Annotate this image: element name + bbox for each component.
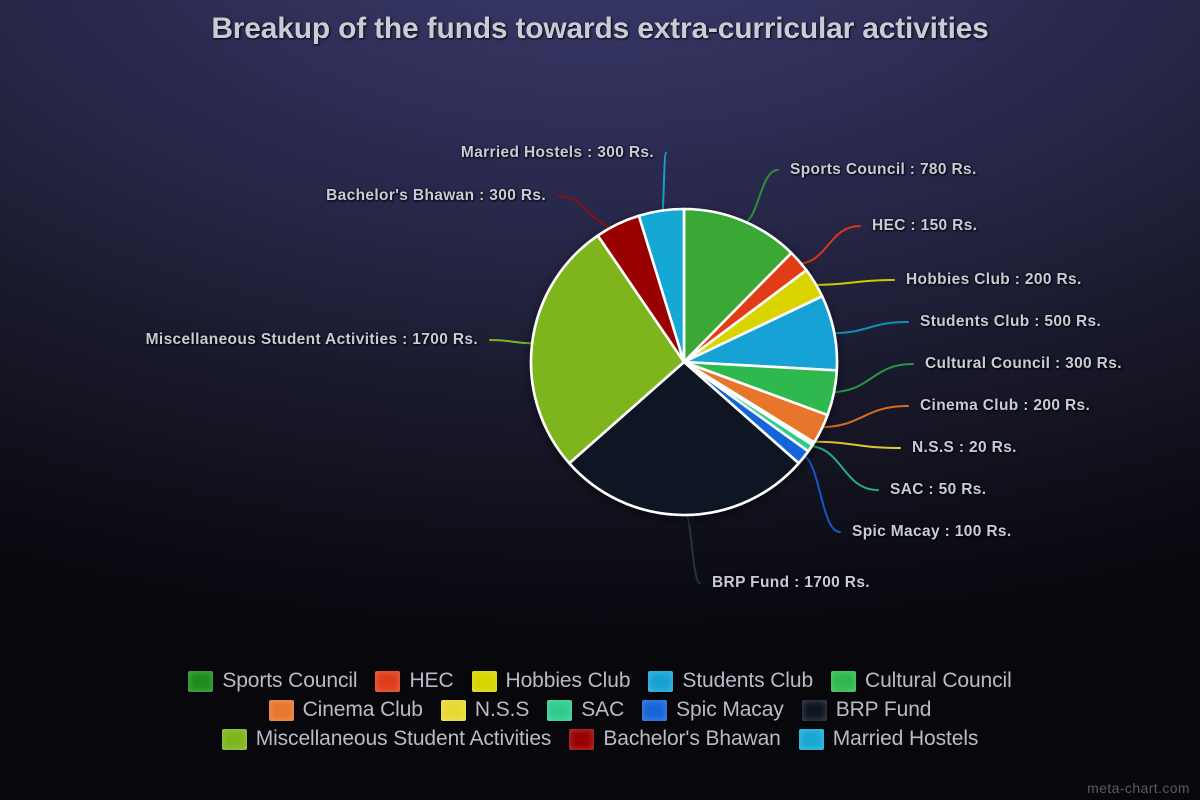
legend-item-label: SAC <box>581 697 624 723</box>
legend-swatch-icon <box>569 729 594 750</box>
chart-legend: Sports CouncilHECHobbies ClubStudents Cl… <box>0 668 1200 752</box>
legend-swatch-icon <box>648 671 673 692</box>
legend-item-label: HEC <box>409 668 453 694</box>
legend-item-label: Spic Macay <box>676 697 784 723</box>
legend-item[interactable]: Miscellaneous Student Activities <box>222 726 552 752</box>
leader-line <box>830 364 913 392</box>
legend-swatch-icon <box>642 700 667 721</box>
leader-line <box>558 196 619 228</box>
legend-swatch-icon <box>375 671 400 692</box>
legend-item-label: Bachelor's Bhawan <box>603 726 780 752</box>
leader-line <box>662 153 666 215</box>
legend-item[interactable]: HEC <box>375 668 453 694</box>
legend-item[interactable]: Students Club <box>648 668 813 694</box>
legend-row: Miscellaneous Student ActivitiesBachelor… <box>213 726 988 752</box>
legend-item[interactable]: Bachelor's Bhawan <box>569 726 780 752</box>
legend-row: Sports CouncilHECHobbies ClubStudents Cl… <box>179 668 1020 694</box>
legend-item-label: Married Hostels <box>833 726 979 752</box>
legend-item[interactable]: Spic Macay <box>642 697 784 723</box>
leader-line <box>800 455 840 532</box>
legend-item[interactable]: BRP Fund <box>802 697 932 723</box>
leader-line <box>684 511 700 583</box>
legend-item-label: BRP Fund <box>836 697 932 723</box>
legend-item-label: N.S.S <box>475 697 529 723</box>
legend-item-label: Sports Council <box>222 668 357 694</box>
legend-swatch-icon <box>547 700 572 721</box>
legend-swatch-icon <box>222 729 247 750</box>
leader-line <box>810 442 900 448</box>
leader-line <box>818 406 908 427</box>
pie-slices <box>531 209 837 515</box>
legend-row: Cinema ClubN.S.SSACSpic MacayBRP Fund <box>260 697 941 723</box>
legend-item-label: Cinema Club <box>303 697 423 723</box>
legend-item[interactable]: Hobbies Club <box>472 668 631 694</box>
legend-item-label: Students Club <box>682 668 813 694</box>
legend-swatch-icon <box>472 671 497 692</box>
leader-line <box>830 322 908 333</box>
pie-chart-area: Sports Council : 780 Rs.HEC : 150 Rs.Hob… <box>0 0 1200 660</box>
legend-swatch-icon <box>188 671 213 692</box>
pie-chart-svg <box>0 0 1200 660</box>
leader-line <box>490 340 536 343</box>
legend-item[interactable]: Married Hostels <box>799 726 979 752</box>
legend-swatch-icon <box>799 729 824 750</box>
legend-item[interactable]: Sports Council <box>188 668 357 694</box>
legend-item[interactable]: Cinema Club <box>269 697 423 723</box>
watermark: meta-chart.com <box>1087 780 1190 796</box>
legend-swatch-icon <box>269 700 294 721</box>
legend-swatch-icon <box>441 700 466 721</box>
legend-item-label: Hobbies Club <box>506 668 631 694</box>
legend-item[interactable]: SAC <box>547 697 624 723</box>
legend-item-label: Miscellaneous Student Activities <box>256 726 552 752</box>
leader-line <box>741 170 778 224</box>
legend-item[interactable]: N.S.S <box>441 697 529 723</box>
legend-swatch-icon <box>831 671 856 692</box>
leader-line <box>796 226 860 264</box>
leader-line <box>812 280 894 285</box>
chart-canvas: Breakup of the funds towards extra-curri… <box>0 0 1200 800</box>
legend-item-label: Cultural Council <box>865 668 1012 694</box>
legend-swatch-icon <box>802 700 827 721</box>
legend-item[interactable]: Cultural Council <box>831 668 1012 694</box>
